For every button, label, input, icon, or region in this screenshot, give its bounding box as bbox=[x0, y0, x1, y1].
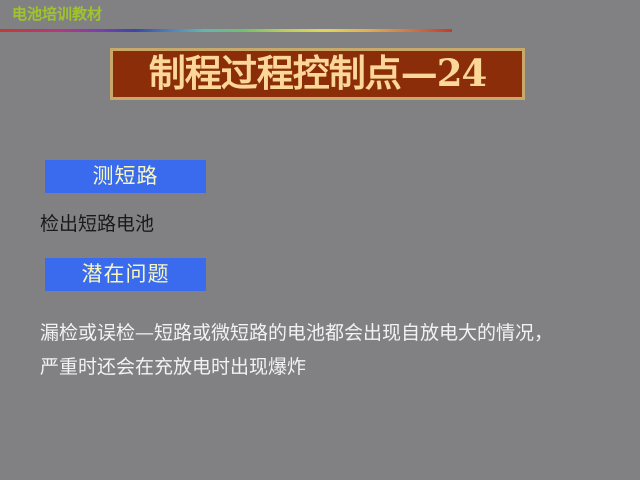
section-label-text: 测短路 bbox=[93, 166, 159, 187]
section-body-measure-short: 检出短路电池 bbox=[40, 212, 154, 237]
masthead: 电池培训教材 bbox=[0, 0, 640, 36]
section-label-measure-short: 测短路 bbox=[45, 160, 206, 193]
section-label-potential-issue: 潜在问题 bbox=[45, 258, 206, 291]
section-body-potential-issue: 漏检或误检—短路或微短路的电池都会出现自放电大的情况， 严重时还会在充放电时出现… bbox=[40, 316, 625, 384]
page-title: 制程过程控制点—24 bbox=[149, 55, 487, 92]
section-body-line: 漏检或误检—短路或微短路的电池都会出现自放电大的情况， bbox=[40, 316, 625, 350]
rainbow-gradient-rule-icon bbox=[0, 29, 452, 32]
section-label-text: 潜在问题 bbox=[82, 264, 170, 285]
slide-title-plaque: 制程过程控制点—24 bbox=[110, 48, 525, 100]
section-body-line: 严重时还会在充放电时出现爆炸 bbox=[40, 350, 625, 384]
slide-canvas: 电池培训教材 制程过程控制点—24 测短路 检出短路电池 潜在问题 漏检或误检—… bbox=[0, 0, 640, 480]
masthead-title: 电池培训教材 bbox=[12, 7, 102, 22]
